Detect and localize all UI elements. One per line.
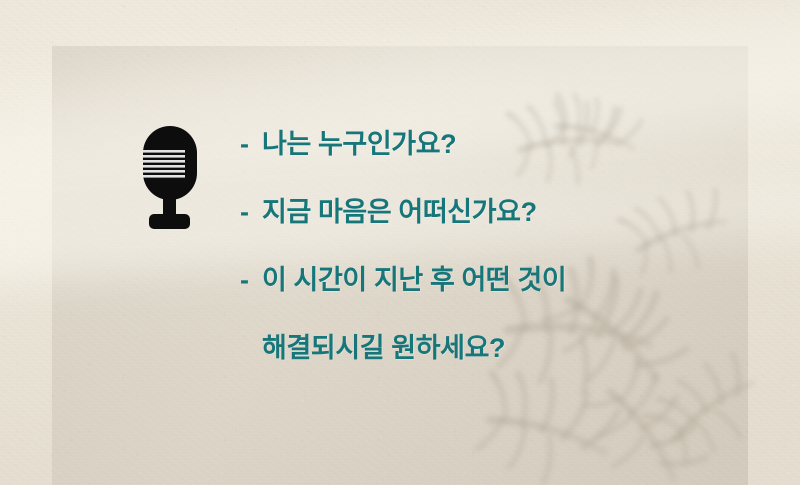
- question-text-2: 지금 마음은 어떠신가요?: [262, 190, 537, 229]
- bullet-dash: -: [240, 197, 262, 228]
- question-list: - 나는 누구인가요? - 지금 마음은 어떠신가요? - 이 시간이 지난 후…: [240, 122, 760, 394]
- question-text-4: 해결되시길 원하세요?: [262, 326, 505, 365]
- poster-canvas: - 나는 누구인가요? - 지금 마음은 어떠신가요? - 이 시간이 지난 후…: [0, 0, 800, 485]
- bullet-dash: -: [240, 265, 262, 296]
- bullet-dash: -: [240, 129, 262, 160]
- list-item: - 해결되시길 원하세요?: [240, 326, 760, 394]
- list-item: - 이 시간이 지난 후 어떤 것이: [240, 258, 760, 326]
- list-item: - 나는 누구인가요?: [240, 122, 760, 190]
- question-text-3: 이 시간이 지난 후 어떤 것이: [262, 258, 566, 297]
- list-item: - 지금 마음은 어떠신가요?: [240, 190, 760, 258]
- microphone-icon: [139, 124, 201, 232]
- question-text-1: 나는 누구인가요?: [262, 122, 456, 161]
